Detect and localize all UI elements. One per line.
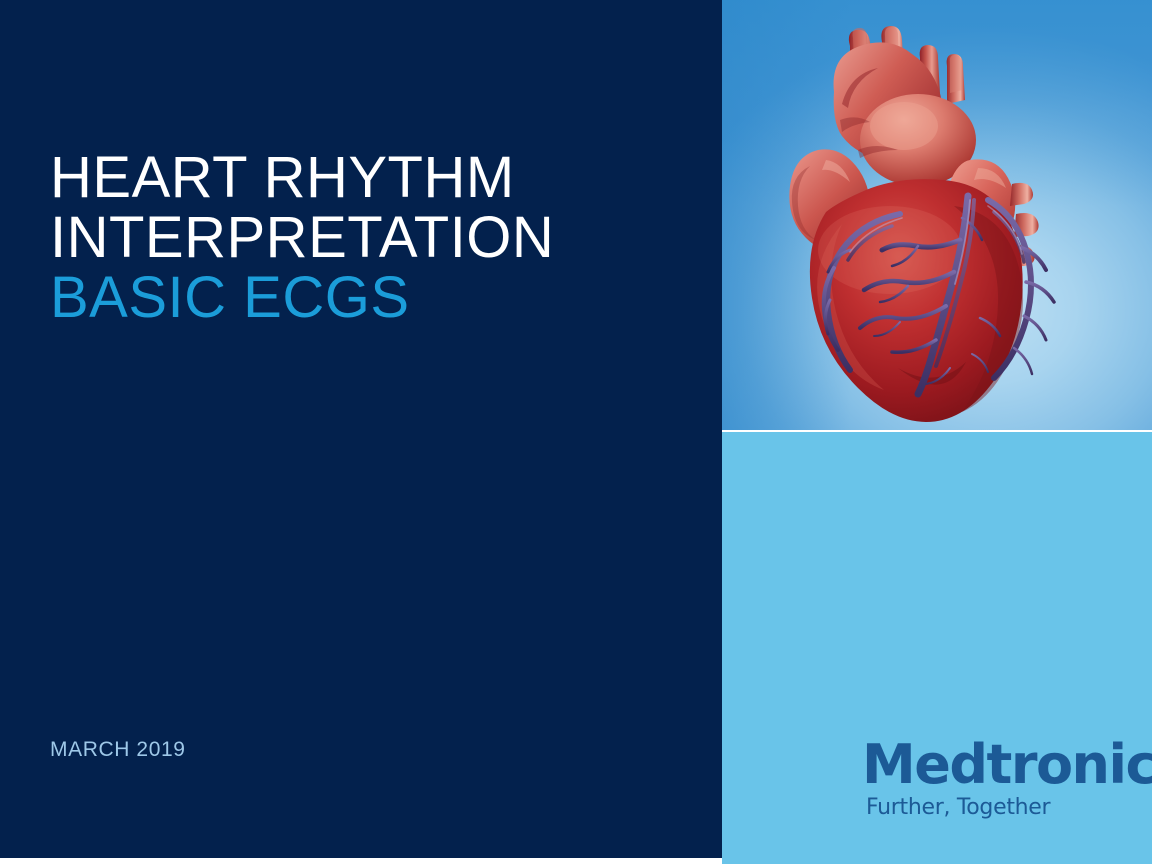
- heart-image-panel: [722, 0, 1152, 430]
- medtronic-tagline: Further, Together: [866, 795, 1122, 821]
- title-line-2: INTERPRETATION: [50, 208, 690, 268]
- anatomical-heart-illustration: [722, 0, 1152, 430]
- medtronic-logo: Medtronic Further, Together: [862, 737, 1122, 821]
- title-line-1: HEART RHYTHM: [50, 148, 690, 208]
- title-subtitle-accent: BASIC ECGS: [50, 268, 690, 328]
- brand-panel: Medtronic Further, Together: [722, 432, 1152, 864]
- title-slide: HEART RHYTHM INTERPRETATION BASIC ECGS M…: [0, 0, 1152, 864]
- date-label: MARCH 2019: [50, 738, 186, 762]
- medtronic-wordmark: Medtronic: [862, 737, 1122, 793]
- navy-background-panel: HEART RHYTHM INTERPRETATION BASIC ECGS M…: [0, 0, 722, 858]
- page-title: HEART RHYTHM INTERPRETATION BASIC ECGS: [50, 148, 690, 328]
- bottom-white-strip: [0, 858, 722, 864]
- heart-vessels-group: [789, 26, 1054, 422]
